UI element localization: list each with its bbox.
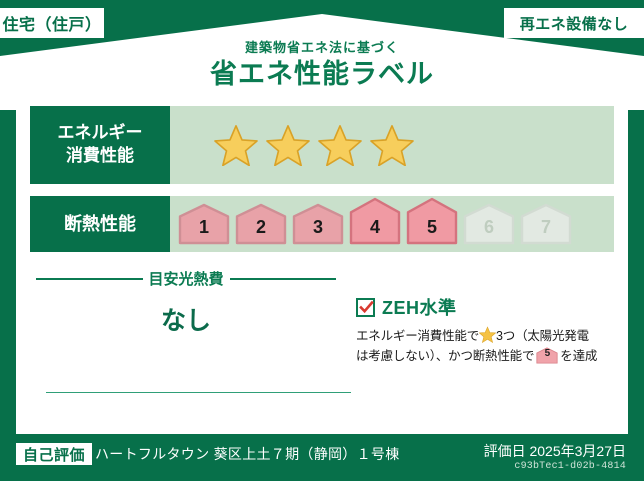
check-icon (356, 298, 375, 317)
energy-performance-label-cell: エネルギー 消費性能 (30, 106, 170, 184)
zeh-title: ZEH水準 (382, 294, 457, 320)
star-icon (479, 326, 496, 343)
energy-label-line1: エネルギー (58, 122, 143, 145)
footer-divider (46, 392, 351, 393)
zeh-desc-part1: エネルギー消費性能で (356, 329, 479, 343)
evaluation-code: c93bTec1-d02b-4814 (514, 461, 626, 472)
utility-cost-value: なし (36, 301, 336, 337)
label-title-block: 建築物省エネ法に基づく 省エネ性能ラベル (0, 40, 644, 91)
insulation-label: 断熱性能 (64, 212, 136, 236)
insulation-grade-value: 4 (370, 217, 380, 245)
insulation-grade-badge: 1 (178, 203, 230, 245)
insulation-grade-value: 7 (541, 217, 551, 245)
insulation-grade-badge: 3 (292, 203, 344, 245)
evaluation-date: 評価日 2025年3月27日 (484, 441, 626, 461)
renewable-equipment-tag: 再エネ設備なし (504, 8, 644, 38)
star-icon (370, 124, 414, 166)
energy-performance-row: エネルギー 消費性能 (30, 106, 614, 184)
building-name: ハートフルタウン 葵区上土７期（静岡）１号棟 (95, 444, 400, 464)
house-badge-inline-value: 5 (536, 344, 558, 364)
house-badge-inline-icon: 5 (536, 347, 558, 364)
star-icon (214, 124, 258, 166)
energy-performance-label: 住宅（住戸） 再エネ設備なし 建築物省エネ法に基づく 省エネ性能ラベル エネルギ… (0, 0, 644, 481)
utility-cost-heading: 目安光熱費 (36, 268, 336, 289)
label-footer: 自己評価 ハートフルタウン 葵区上土７期（静岡）１号棟 評価日 2025年3月2… (0, 434, 644, 481)
zeh-standard-block: ZEH水準 エネルギー消費性能で3つ（太陽光発電は考慮しない）、かつ断熱性能で5… (356, 294, 624, 366)
heading-rule-left (36, 278, 143, 280)
title-subtitle: 建築物省エネ法に基づく (0, 40, 644, 56)
self-evaluation-badge: 自己評価 (16, 443, 92, 465)
energy-star-rating (170, 106, 614, 184)
insulation-performance-label-cell: 断熱性能 (30, 196, 170, 252)
insulation-grade-value: 2 (256, 217, 266, 245)
insulation-grade-value: 3 (313, 217, 323, 245)
insulation-grade-badge: 4 (349, 197, 401, 245)
heading-rule-right (230, 278, 337, 280)
insulation-grade-value: 5 (427, 217, 437, 245)
housing-type-tag: 住宅（住戸） (0, 8, 104, 38)
insulation-grade-badge: 6 (463, 203, 515, 245)
page-title: 省エネ性能ラベル (0, 57, 644, 91)
zeh-description: エネルギー消費性能で3つ（太陽光発電は考慮しない）、かつ断熱性能で5を達成 (356, 326, 624, 366)
insulation-grade-scale: 1234567 (170, 196, 614, 252)
star-icon (266, 124, 310, 166)
star-icon (318, 124, 362, 166)
energy-label-line2: 消費性能 (66, 145, 134, 168)
zeh-heading: ZEH水準 (356, 294, 624, 320)
insulation-grade-badge: 2 (235, 203, 287, 245)
insulation-grade-badge: 5 (406, 197, 458, 245)
utility-cost-heading-text: 目安光熱費 (149, 268, 224, 289)
zeh-desc-stars: 3つ（太陽光発電 (496, 329, 589, 343)
insulation-performance-row: 断熱性能 1234567 (30, 196, 614, 252)
insulation-grade-value: 1 (199, 217, 209, 245)
insulation-grade-value: 6 (484, 217, 494, 245)
zeh-desc-part2: は考慮しない）、かつ断熱性能で (356, 349, 534, 363)
insulation-grade-badge: 7 (520, 203, 572, 245)
label-body-card: エネルギー 消費性能 断熱性能 1234567 目安光熱費 なし (16, 96, 628, 434)
zeh-desc-part3: を達成 (560, 349, 597, 363)
